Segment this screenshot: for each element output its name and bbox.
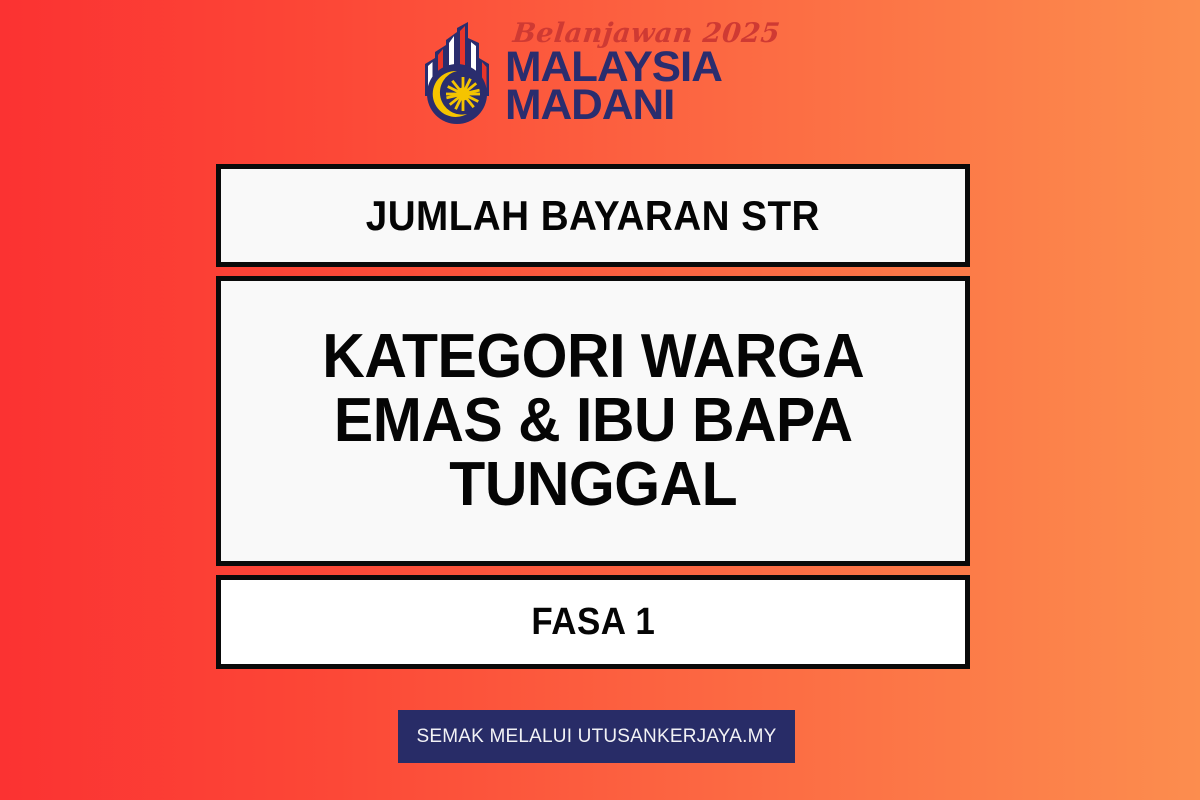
logo-wordmark: Belanjawan 2025 MALAYSIA MADANI <box>505 18 780 125</box>
headline-fasa: FASA 1 <box>531 601 655 644</box>
headline-kategori-line-3: TUNGGAL <box>449 450 737 519</box>
headline-jumlah-bayaran: JUMLAH BAYARAN STR <box>366 192 820 240</box>
malaysia-madani-logo: Belanjawan 2025 MALAYSIA MADANI <box>419 18 780 128</box>
logo-header: Belanjawan 2025 MALAYSIA MADANI <box>0 18 1200 128</box>
content-stack: JUMLAH BAYARAN STR KATEGORI WARGA EMAS &… <box>216 164 970 669</box>
headline-box-jumlah-bayaran: JUMLAH BAYARAN STR <box>216 164 970 267</box>
logo-line-madani: MADANI <box>505 87 786 125</box>
headline-box-kategori: KATEGORI WARGA EMAS & IBU BAPA TUNGGAL <box>216 276 970 566</box>
check-source-banner[interactable]: SEMAK MELALUI UTUSANKERJAYA.MY <box>398 710 795 763</box>
headline-kategori-line-2: EMAS & IBU BAPA <box>334 386 853 455</box>
headline-box-fasa: FASA 1 <box>216 575 970 669</box>
malaysia-madani-emblem-icon <box>419 18 499 128</box>
check-source-label: SEMAK MELALUI UTUSANKERJAYA.MY <box>416 726 776 748</box>
headline-kategori-line-1: KATEGORI WARGA <box>322 322 864 391</box>
headline-kategori: KATEGORI WARGA EMAS & IBU BAPA TUNGGAL <box>322 325 864 517</box>
